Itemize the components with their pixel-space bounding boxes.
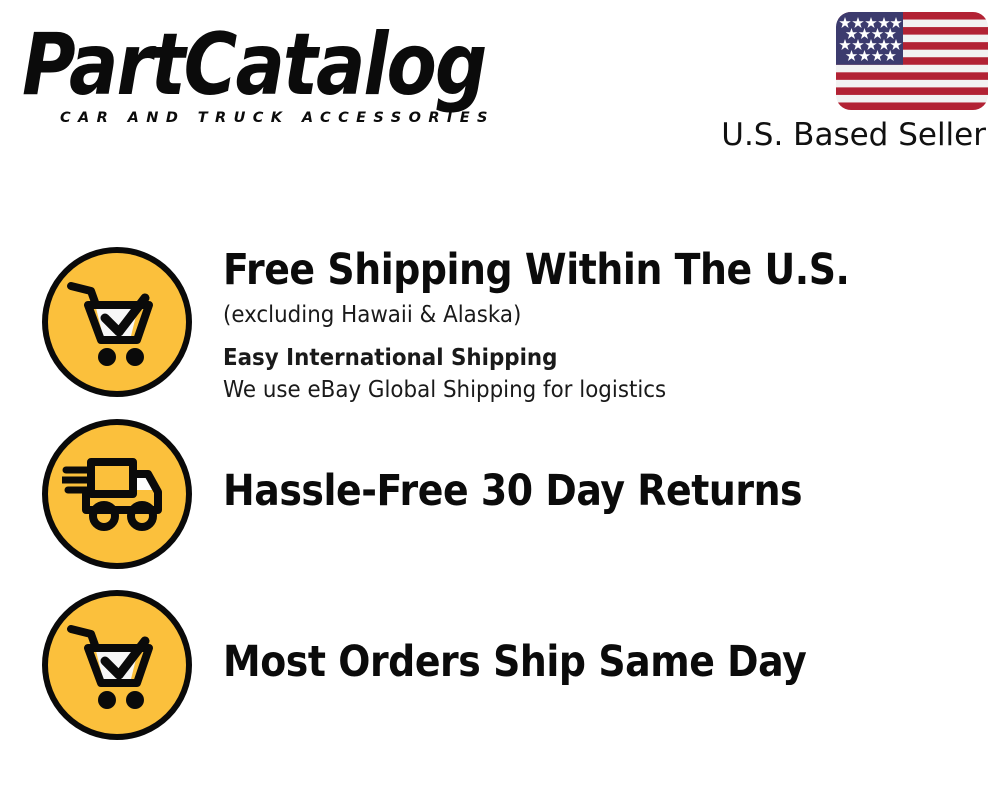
feature-headline: Free Shipping Within The U.S. xyxy=(223,245,892,295)
brand-logo-tagline: CAR AND TRUCK ACCESSORIES xyxy=(60,110,495,126)
brand-logo-wordmark: PartCatalog xyxy=(22,22,487,108)
shopping-cart-check-icon xyxy=(42,247,192,397)
fast-delivery-truck-icon xyxy=(42,419,192,569)
feature-note: (excluding Hawaii & Alaska) xyxy=(223,299,930,331)
feature-text-returns: Hassle-Free 30 Day Returns xyxy=(223,466,983,516)
us-flag-icon xyxy=(836,12,988,110)
feature-headline: Most Orders Ship Same Day xyxy=(223,637,892,687)
feature-text-free-shipping: Free Shipping Within The U.S. (excluding… xyxy=(223,245,983,406)
feature-sub-heading: Easy International Shipping xyxy=(223,342,930,374)
brand-logo: PartCatalog CAR AND TRUCK ACCESSORIES xyxy=(22,22,492,122)
feature-headline: Hassle-Free 30 Day Returns xyxy=(223,466,892,516)
feature-text-same-day-ship: Most Orders Ship Same Day xyxy=(223,637,983,687)
shopping-cart-check-icon xyxy=(42,590,192,740)
feature-sub-text: We use eBay Global Shipping for logistic… xyxy=(223,374,930,406)
us-based-seller-label: U.S. Based Seller xyxy=(721,116,986,154)
shipping-info-banner: PartCatalog CAR AND TRUCK ACCESSORIES xyxy=(0,0,1000,800)
